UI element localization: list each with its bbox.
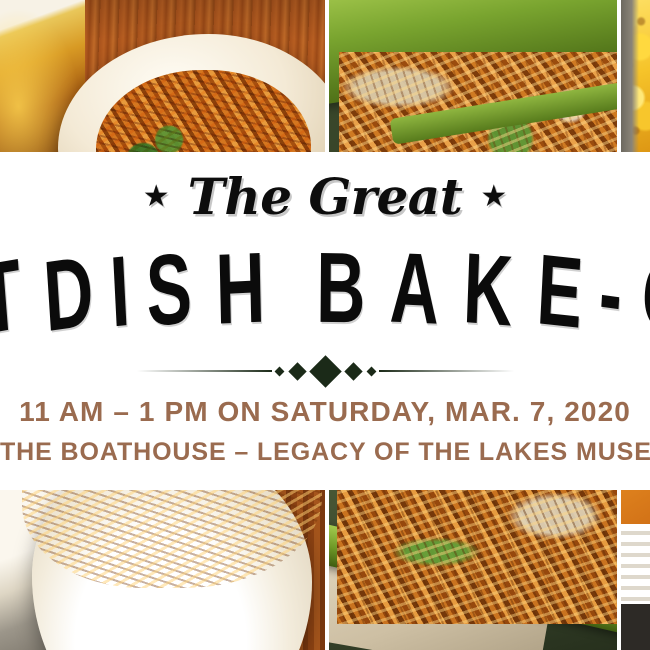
poster-text-band: ★ The Great ★ HOTDISHBAKE-OFF 11 AM – 1 …: [0, 152, 650, 490]
ornament-rule-left: [137, 370, 272, 372]
headline-letter: -: [597, 243, 627, 346]
event-poster: ★ The Great ★ HOTDISHBAKE-OFF 11 AM – 1 …: [0, 0, 650, 650]
photo-green-beans-with-crispy-onions: [329, 490, 617, 650]
headline-letter: O: [638, 243, 650, 351]
event-details: 11 AM – 1 PM ON SATURDAY, MAR. 7, 2020 T…: [0, 395, 650, 468]
diamond-icon: [274, 366, 284, 376]
bottom-photo-strip: [0, 490, 650, 650]
headline-letter: A: [389, 237, 441, 339]
event-location: THE BOATHOUSE – LEGACY OF THE LAKES MUSE…: [0, 438, 650, 468]
diamond-icon: [309, 355, 342, 388]
headline-letter: D: [41, 241, 97, 347]
photo-hotdish-in-white-baking-dish-on-wood: [0, 0, 325, 152]
headline-letter: K: [462, 238, 515, 342]
photo-orange-dish-with-white-plates: [621, 490, 650, 650]
headline-letter: T: [0, 244, 26, 350]
page-title: HOTDISHBAKE-OFF: [0, 238, 650, 338]
ornament-rule-right: [379, 370, 514, 372]
event-datetime: 11 AM – 1 PM ON SATURDAY, MAR. 7, 2020: [0, 395, 650, 428]
headline-letter: B: [316, 238, 366, 339]
photo-white-casserole-dish-fried-onions: [0, 490, 325, 650]
headline-letter: H: [215, 237, 267, 339]
star-icon-right: ★: [480, 182, 507, 212]
star-icon-left: ★: [143, 182, 170, 212]
diamond-icon: [366, 366, 376, 376]
eyebrow-text: The Great: [188, 172, 463, 222]
headline-letter: E: [535, 239, 586, 344]
headline-letter: I: [108, 241, 133, 343]
diamond-icon: [344, 362, 362, 380]
eyebrow-row: ★ The Great ★: [0, 172, 650, 222]
diamond-divider-ornament: [0, 359, 650, 383]
headline-wrap: HOTDISHBAKE-OFF: [0, 238, 650, 348]
photo-cheesy-corn-closeup: [621, 0, 650, 152]
headline-letter: S: [145, 238, 195, 341]
top-photo-strip: [0, 0, 650, 152]
photo-green-bean-casserole-green-dish: [329, 0, 617, 152]
diamond-icon: [288, 362, 306, 380]
